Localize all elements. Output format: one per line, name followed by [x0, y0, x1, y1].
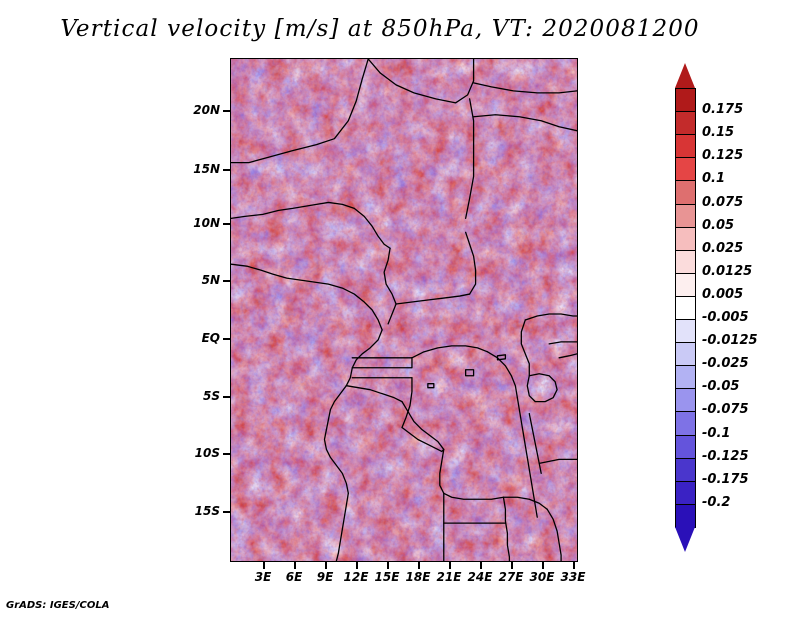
- colorbar-arrow-top: [675, 63, 695, 88]
- colorbar-arrow-bottom: [675, 527, 695, 552]
- map-panel[interactable]: [230, 58, 578, 562]
- colorbar-band: [675, 180, 696, 205]
- lon-label-24e: 24E: [468, 570, 493, 584]
- colorbar-band: [675, 227, 696, 252]
- lon-label-6e: 6E: [286, 570, 303, 584]
- lat-label-10s: 10S: [180, 446, 220, 460]
- colorbar-tick-label: 0.125: [702, 148, 743, 163]
- colorbar-tick-label: -0.05: [702, 379, 739, 394]
- colorbar-tick-label: 0.1: [702, 171, 725, 186]
- colorbar-band: [675, 134, 696, 159]
- colorbar-tick-label: -0.1: [702, 426, 730, 441]
- colorbar-tick-label: -0.025: [702, 356, 749, 371]
- lat-label-eq: EQ: [180, 331, 220, 345]
- lat-label-15s: 15S: [180, 504, 220, 518]
- colorbar-tick-label: -0.175: [702, 472, 749, 487]
- colorbar-band: [675, 296, 696, 321]
- colorbar-tick-label: -0.0125: [702, 333, 758, 348]
- colorbar-band: [675, 250, 696, 275]
- colorbar-band: [675, 342, 696, 367]
- colorbar[interactable]: [675, 63, 696, 553]
- lat-label-5s: 5S: [180, 389, 220, 403]
- lon-label-12e: 12E: [344, 570, 369, 584]
- lat-tick: [223, 453, 230, 455]
- country-borders: [231, 59, 577, 561]
- colorbar-tick-label: 0.175: [702, 102, 743, 117]
- colorbar-tick-label: 0.025: [702, 241, 743, 256]
- colorbar-band: [675, 319, 696, 344]
- lon-label-9e: 9E: [317, 570, 334, 584]
- lat-tick: [223, 338, 230, 340]
- lon-label-3e: 3E: [255, 570, 272, 584]
- lat-label-15n: 15N: [180, 162, 220, 176]
- lat-label-5n: 5N: [180, 273, 220, 287]
- colorbar-tick-label: -0.125: [702, 449, 749, 464]
- lon-label-21e: 21E: [437, 570, 462, 584]
- colorbar-tick-label: 0.075: [702, 195, 743, 210]
- colorbar-band: [675, 273, 696, 298]
- colorbar-tick-label: -0.005: [702, 310, 749, 325]
- colorbar-band: [675, 365, 696, 390]
- colorbar-band: [675, 111, 696, 136]
- lat-tick: [223, 511, 230, 513]
- lat-tick: [223, 396, 230, 398]
- colorbar-band: [675, 458, 696, 483]
- colorbar-tick-label: 0.15: [702, 125, 734, 140]
- lon-label-18e: 18E: [406, 570, 431, 584]
- lat-tick: [223, 169, 230, 171]
- lat-label-10n: 10N: [180, 216, 220, 230]
- page-title: Vertical velocity [m/s] at 850hPa, VT: 2…: [0, 16, 760, 42]
- colorbar-band: [675, 435, 696, 460]
- colorbar-tick-label: 0.0125: [702, 264, 752, 279]
- colorbar-tick-label: -0.2: [702, 495, 730, 510]
- lon-label-15e: 15E: [375, 570, 400, 584]
- colorbar-band: [675, 504, 696, 529]
- colorbar-tick-label: 0.05: [702, 218, 734, 233]
- colorbar-band: [675, 481, 696, 506]
- grads-attribution: GrADS: IGES/COLA: [6, 600, 109, 611]
- colorbar-band: [675, 388, 696, 413]
- colorbar-tick-label: 0.005: [702, 287, 743, 302]
- colorbar-band: [675, 88, 696, 113]
- colorbar-band: [675, 157, 696, 182]
- colorbar-band: [675, 204, 696, 229]
- lat-tick: [223, 280, 230, 282]
- lon-label-33e: 33E: [561, 570, 586, 584]
- lat-tick: [223, 110, 230, 112]
- lat-tick: [223, 223, 230, 225]
- lon-label-27e: 27E: [499, 570, 524, 584]
- colorbar-tick-label: -0.075: [702, 402, 749, 417]
- lon-label-30e: 30E: [530, 570, 555, 584]
- colorbar-band: [675, 411, 696, 436]
- lat-label-20n: 20N: [180, 103, 220, 117]
